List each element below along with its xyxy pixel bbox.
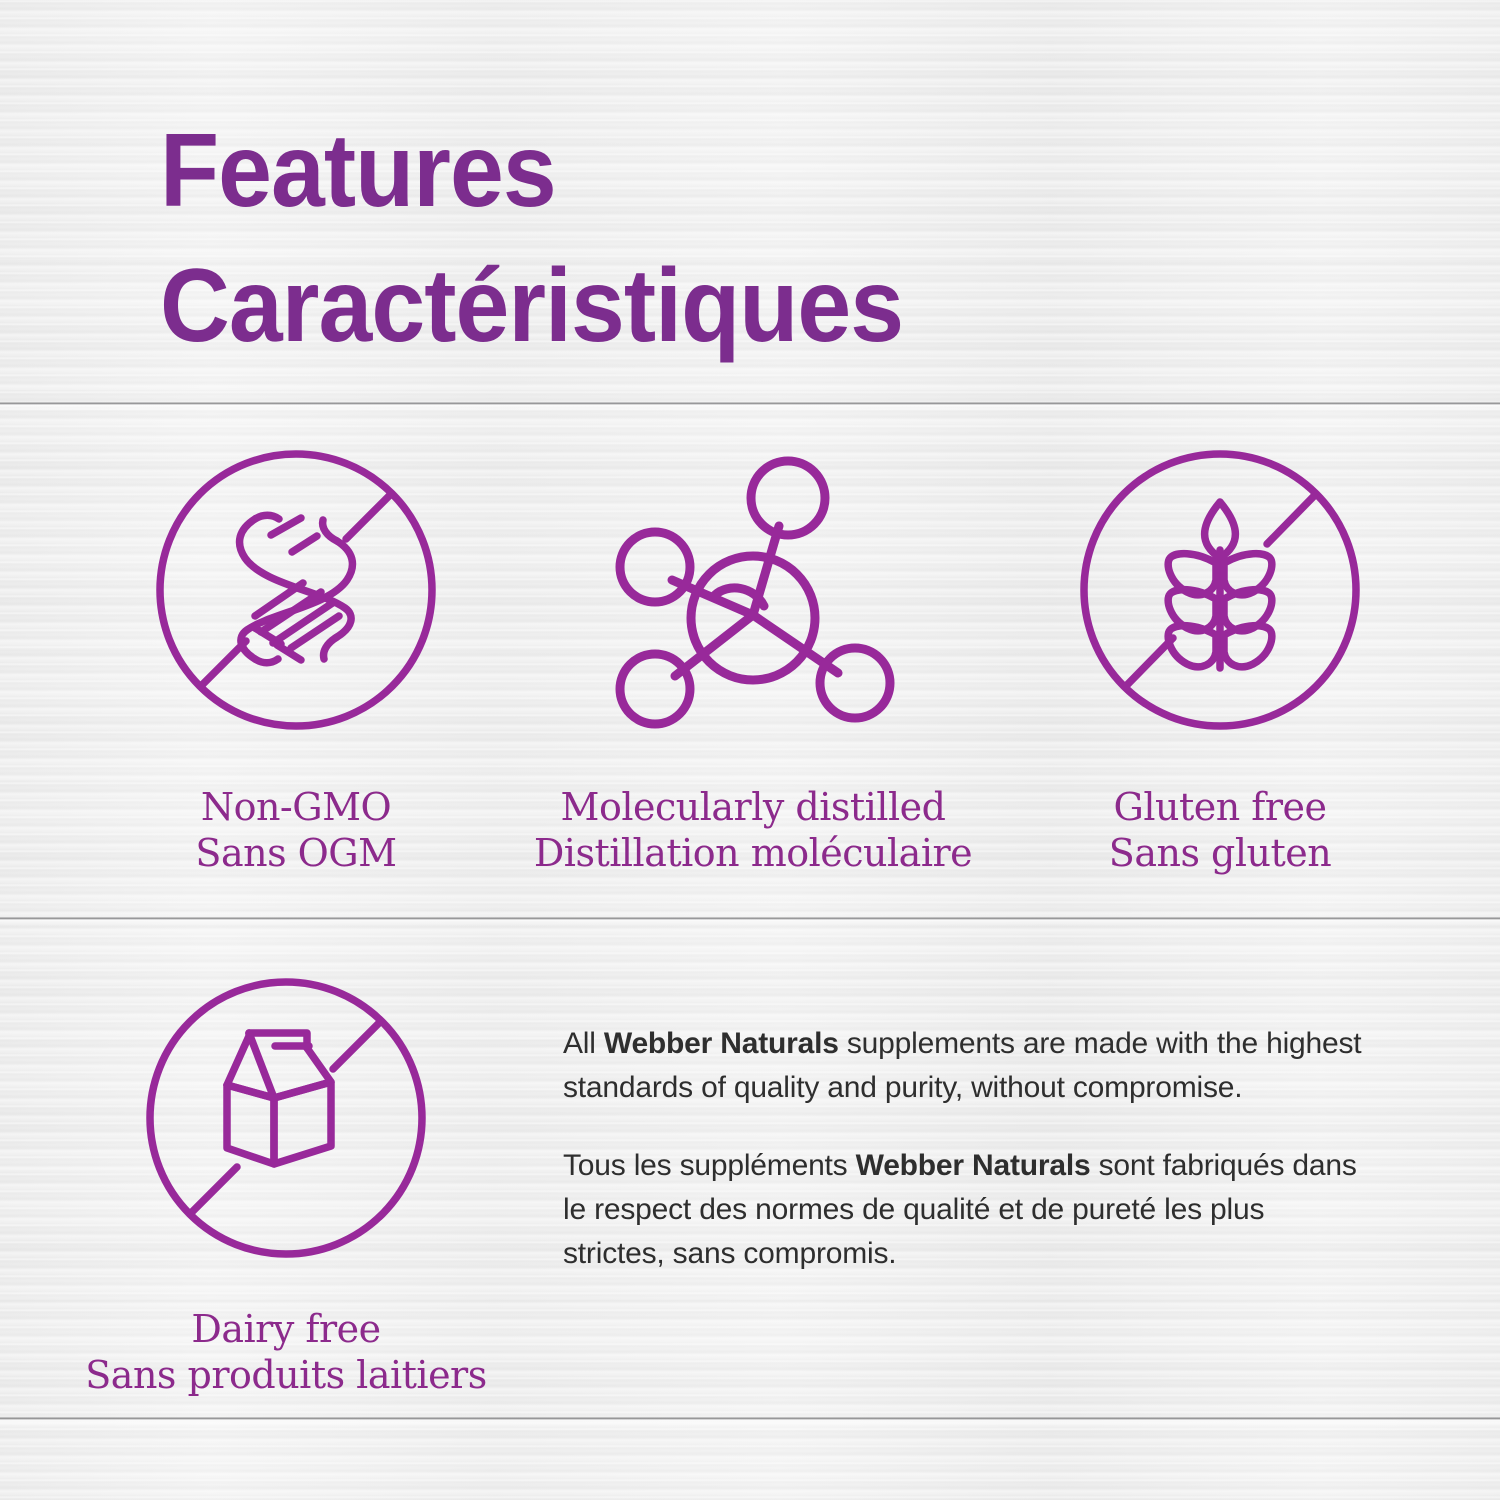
plank-seam-3 <box>0 1417 1500 1420</box>
feature-non-gmo-label-fr: Sans OGM <box>96 830 496 876</box>
brand-copy: All Webber Naturals supplements are made… <box>563 1022 1363 1276</box>
feature-molecularly-distilled: Molecularly distilled Distillation moléc… <box>493 440 1013 877</box>
no-gmo-dna-icon <box>96 440 496 740</box>
feature-gluten-free-label-en: Gluten free <box>1040 784 1400 830</box>
infographic-canvas: Features Caractéristiques <box>0 0 1500 1500</box>
feature-non-gmo-caption: Non-GMO Sans OGM <box>96 784 496 877</box>
feature-molecularly-distilled-caption: Molecularly distilled Distillation moléc… <box>493 784 1013 877</box>
feature-molecularly-distilled-label-en: Molecularly distilled <box>493 784 1013 830</box>
feature-dairy-free: Dairy free Sans produits laitiers <box>36 968 536 1399</box>
copy-fr-before: Tous les suppléments <box>563 1149 856 1182</box>
feature-non-gmo: Non-GMO Sans OGM <box>96 440 496 877</box>
page-title-en: Features <box>160 104 1257 239</box>
no-gluten-wheat-icon <box>1040 440 1400 740</box>
feature-dairy-free-label-fr: Sans produits laitiers <box>36 1352 536 1398</box>
no-dairy-carton-icon <box>36 968 536 1268</box>
feature-molecularly-distilled-label-fr: Distillation moléculaire <box>493 830 1013 876</box>
copy-en-brand: Webber Naturals <box>604 1027 839 1060</box>
feature-dairy-free-caption: Dairy free Sans produits laitiers <box>36 1306 536 1399</box>
page-title: Features Caractéristiques <box>160 104 1257 374</box>
brand-copy-en: All Webber Naturals supplements are made… <box>563 1022 1363 1110</box>
page-title-fr: Caractéristiques <box>160 239 1257 374</box>
copy-fr-brand: Webber Naturals <box>856 1149 1091 1182</box>
copy-en-before: All <box>563 1027 604 1060</box>
plank-seam-1 <box>0 402 1500 405</box>
feature-gluten-free: Gluten free Sans gluten <box>1040 440 1400 877</box>
feature-dairy-free-label-en: Dairy free <box>36 1306 536 1352</box>
feature-gluten-free-label-fr: Sans gluten <box>1040 830 1400 876</box>
molecule-icon <box>493 440 1013 740</box>
feature-non-gmo-label-en: Non-GMO <box>96 784 496 830</box>
brand-copy-fr: Tous les suppléments Webber Naturals son… <box>563 1144 1363 1276</box>
feature-gluten-free-caption: Gluten free Sans gluten <box>1040 784 1400 877</box>
plank-seam-2 <box>0 917 1500 920</box>
